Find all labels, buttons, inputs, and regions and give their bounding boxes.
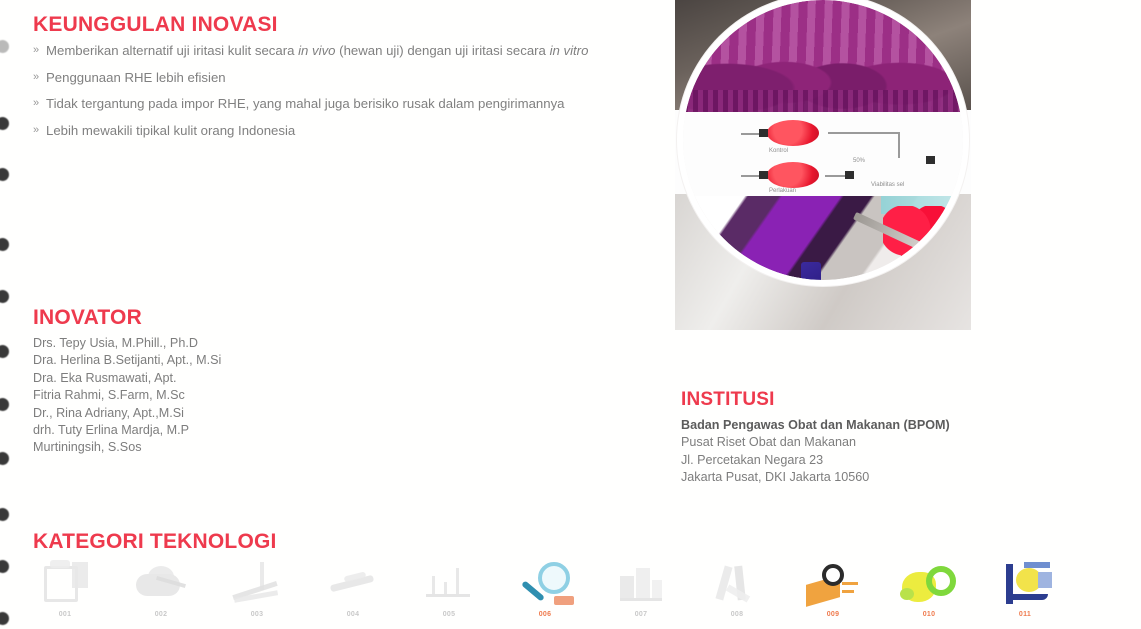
- kategori-label: 010: [923, 611, 936, 618]
- kategori-label: 001: [59, 611, 72, 618]
- bullet-marker: »: [33, 69, 46, 87]
- section-title-kategori-teknologi: KATEGORI TEKNOLOGI: [33, 530, 277, 554]
- diagram-label-percent: 50%: [853, 158, 865, 164]
- list-item: drh. Tuty Erlina Mardja, M.P: [33, 422, 221, 439]
- kategori-label: 004: [347, 611, 360, 618]
- list-item: Fitria Rahmi, S.Farm, M.Sc: [33, 387, 221, 404]
- list-item: Dr., Rina Adriany, Apt.,M.Si: [33, 405, 221, 422]
- arrow-line: [828, 132, 900, 134]
- diagram-node: [759, 171, 768, 179]
- kemaritiman-icon: [706, 560, 768, 610]
- hankam-icon: [418, 560, 480, 610]
- kategori-icon-strip: 001 002 003 004 005: [22, 560, 1062, 629]
- inovator-name-list: Drs. Tepy Usia, M.Phill., Ph.D Dra. Herl…: [33, 335, 221, 457]
- diagram-label-control: Kontrol: [769, 148, 788, 154]
- list-item: » Tidak tergantung pada impor RHE, yang …: [33, 95, 633, 113]
- kategori-item-transportasi[interactable]: 004: [310, 560, 396, 629]
- list-item: » Lebih mewakili tipikal kulit orang Ind…: [33, 122, 633, 140]
- section-title-keunggulan-inovasi: KEUNGGULAN INOVASI: [33, 13, 278, 37]
- diagram-node: [926, 156, 935, 164]
- section-title-institusi: INSTITUSI: [681, 389, 775, 411]
- kategori-label: 002: [155, 611, 168, 618]
- kategori-item-kesehatan[interactable]: 006: [502, 560, 588, 629]
- circular-photo-mask: Kontrol Perlakuan 50% Viabilitas sel: [683, 0, 963, 280]
- list-item-text: Memberikan alternatif uji iritasi kulit …: [46, 42, 633, 60]
- kategori-label: 003: [251, 611, 264, 618]
- kesehatan-icon: [514, 560, 576, 610]
- cell-control-icon: [767, 120, 819, 146]
- kategori-label: 009: [827, 611, 840, 618]
- list-item: » Penggunaan RHE lebih efisien: [33, 69, 633, 87]
- list-item: Dra. Eka Rusmawati, Apt.: [33, 370, 221, 387]
- institusi-details: Badan Pengawas Obat dan Makanan (BPOM) P…: [681, 417, 950, 487]
- bullet-marker: »: [33, 42, 46, 60]
- kategori-item-pangan[interactable]: 001: [22, 560, 108, 629]
- rhe-composite-photo: Kontrol Perlakuan 50% Viabilitas sel: [675, 0, 971, 330]
- kategori-item-sosial-humaniora[interactable]: 009: [790, 560, 876, 629]
- pangan-icon: [34, 560, 96, 610]
- institusi-city: Jakarta Pusat, DKI Jakarta 10560: [681, 469, 950, 486]
- experiment-diagram: Kontrol Perlakuan 50% Viabilitas sel: [683, 112, 963, 196]
- material-maju-icon: [610, 560, 672, 610]
- kategori-item-tik[interactable]: 003: [214, 560, 300, 629]
- transportasi-icon: [322, 560, 384, 610]
- institusi-org-name: Badan Pengawas Obat dan Makanan (BPOM): [681, 417, 950, 434]
- bullet-marker: »: [33, 95, 46, 113]
- kategori-label: 008: [731, 611, 744, 618]
- list-item: » Memberikan alternatif uji iritasi kuli…: [33, 42, 633, 60]
- edge-dot-markers: [0, 0, 16, 629]
- energi-icon: [130, 560, 192, 610]
- bullet-marker: »: [33, 122, 46, 140]
- tik-icon: [226, 560, 288, 610]
- diagram-label-viability: Viabilitas sel: [871, 182, 904, 188]
- list-item: Murtiningsih, S.Sos: [33, 439, 221, 456]
- kategori-label: 011: [1019, 611, 1031, 618]
- list-item: Dra. Herlina B.Setijanti, Apt., M.Si: [33, 352, 221, 369]
- kategori-item-lingkungan[interactable]: 010: [886, 560, 972, 629]
- diagram-node: [759, 129, 768, 137]
- kategori-item-kebencanaan[interactable]: 011: [982, 560, 1068, 629]
- arrow-line: [898, 132, 900, 158]
- kategori-item-hankam[interactable]: 005: [406, 560, 492, 629]
- kategori-label: 005: [443, 611, 456, 618]
- poster-page: KEUNGGULAN INOVASI » Memberikan alternat…: [0, 0, 1141, 629]
- list-item-text: Tidak tergantung pada impor RHE, yang ma…: [46, 95, 633, 113]
- keunggulan-bullet-list: » Memberikan alternatif uji iritasi kuli…: [33, 42, 633, 148]
- diagram-label-treatment: Perlakuan: [769, 188, 796, 194]
- kategori-item-kemaritiman[interactable]: 008: [694, 560, 780, 629]
- cell-treatment-icon: [767, 162, 819, 188]
- list-item-text: Lebih mewakili tipikal kulit orang Indon…: [46, 122, 633, 140]
- list-item: Drs. Tepy Usia, M.Phill., Ph.D: [33, 335, 221, 352]
- sosial-humaniora-icon: [802, 560, 864, 610]
- institusi-street: Jl. Percetakan Negara 23: [681, 452, 950, 469]
- kategori-item-material-maju[interactable]: 007: [598, 560, 684, 629]
- lingkungan-icon: [898, 560, 960, 610]
- section-title-inovator: INOVATOR: [33, 306, 142, 330]
- institusi-unit: Pusat Riset Obat dan Makanan: [681, 434, 950, 451]
- kebencanaan-icon: [994, 560, 1056, 610]
- kategori-label: 007: [635, 611, 648, 618]
- kategori-label: 006: [539, 611, 552, 618]
- arrow-line: [825, 175, 847, 177]
- blue-sample-chip: [801, 262, 821, 280]
- list-item-text: Penggunaan RHE lebih efisien: [46, 69, 633, 87]
- histology-section-image: [683, 0, 963, 112]
- kategori-item-energi[interactable]: 002: [118, 560, 204, 629]
- diagram-node: [845, 171, 854, 179]
